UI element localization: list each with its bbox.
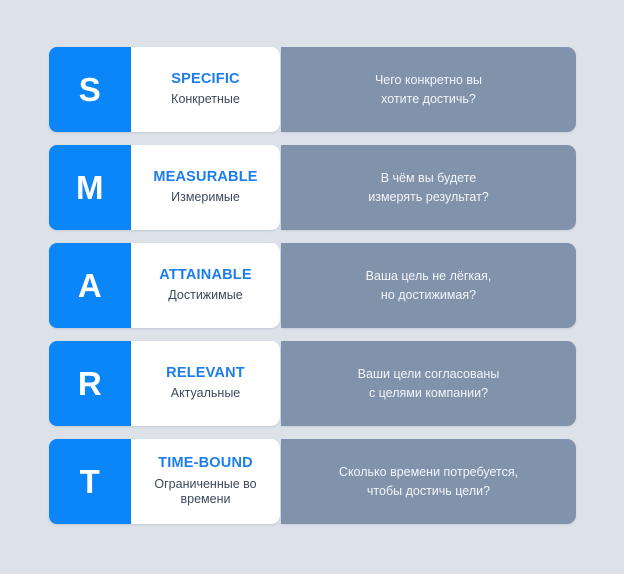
question-panel-attainable: Ваша цель не лёгкая, но достижимая? <box>281 243 576 328</box>
question-text: Ваши цели согласованы с целями компании? <box>348 365 510 401</box>
term-card-measurable: MEASURABLE Измеримые <box>131 145 280 230</box>
question-line-1: Ваша цель не лёгкая, <box>366 269 492 283</box>
term-subtitle: Измеримые <box>171 190 240 206</box>
term-title: TIME-BOUND <box>158 455 253 472</box>
question-line-2: чтобы достичь цели? <box>367 484 490 498</box>
question-line-2: с целями компании? <box>369 386 488 400</box>
question-line-1: Сколько времени потребуется, <box>339 465 518 479</box>
term-card-time-bound: TIME-BOUND Ограниченные во времени <box>131 439 280 524</box>
question-text: Ваша цель не лёгкая, но достижимая? <box>356 267 502 303</box>
question-line-1: Ваши цели согласованы <box>358 367 500 381</box>
question-text: Сколько времени потребуется, чтобы дости… <box>329 463 528 499</box>
question-panel-specific: Чего конкретно вы хотите достичь? <box>281 47 576 132</box>
question-line-2: хотите достичь? <box>381 92 476 106</box>
letter-tile-a: A <box>49 243 131 328</box>
letter-glyph: T <box>80 465 101 498</box>
term-subtitle: Достижимые <box>168 288 242 304</box>
letter-tile-t: T <box>49 439 131 524</box>
smart-row-relevant: R RELEVANT Актуальные Ваши цели согласов… <box>49 341 576 426</box>
term-card-specific: SPECIFIC Конкретные <box>131 47 280 132</box>
term-card-relevant: RELEVANT Актуальные <box>131 341 280 426</box>
letter-tile-s: S <box>49 47 131 132</box>
term-card-attainable: ATTAINABLE Достижимые <box>131 243 280 328</box>
letter-glyph: S <box>79 73 102 106</box>
smart-row-specific: S SPECIFIC Конкретные Чего конкретно вы … <box>49 47 576 132</box>
smart-goals-infographic: S SPECIFIC Конкретные Чего конкретно вы … <box>0 0 624 574</box>
question-text: Чего конкретно вы хотите достичь? <box>365 71 492 107</box>
question-line-2: но достижимая? <box>381 288 476 302</box>
question-panel-relevant: Ваши цели согласованы с целями компании? <box>281 341 576 426</box>
question-panel-time-bound: Сколько времени потребуется, чтобы дости… <box>281 439 576 524</box>
letter-glyph: M <box>76 171 104 204</box>
smart-row-measurable: M MEASURABLE Измеримые В чём вы будете и… <box>49 145 576 230</box>
question-line-1: Чего конкретно вы <box>375 73 482 87</box>
smart-row-time-bound: T TIME-BOUND Ограниченные во времени Ско… <box>49 439 576 524</box>
term-subtitle: Актуальные <box>171 386 241 402</box>
question-panel-measurable: В чём вы будете измерять результат? <box>281 145 576 230</box>
question-line-1: В чём вы будете <box>381 171 477 185</box>
letter-tile-r: R <box>49 341 131 426</box>
letter-tile-m: M <box>49 145 131 230</box>
term-title: MEASURABLE <box>153 169 257 186</box>
letter-glyph: A <box>78 269 102 302</box>
letter-glyph: R <box>78 367 102 400</box>
term-title: SPECIFIC <box>171 71 239 88</box>
term-subtitle: Конкретные <box>171 92 240 108</box>
question-line-2: измерять результат? <box>368 190 489 204</box>
term-subtitle: Ограниченные во времени <box>137 477 274 508</box>
question-text: В чём вы будете измерять результат? <box>358 169 499 205</box>
smart-row-attainable: A ATTAINABLE Достижимые Ваша цель не лёг… <box>49 243 576 328</box>
term-title: RELEVANT <box>166 365 245 382</box>
term-title: ATTAINABLE <box>159 267 251 284</box>
